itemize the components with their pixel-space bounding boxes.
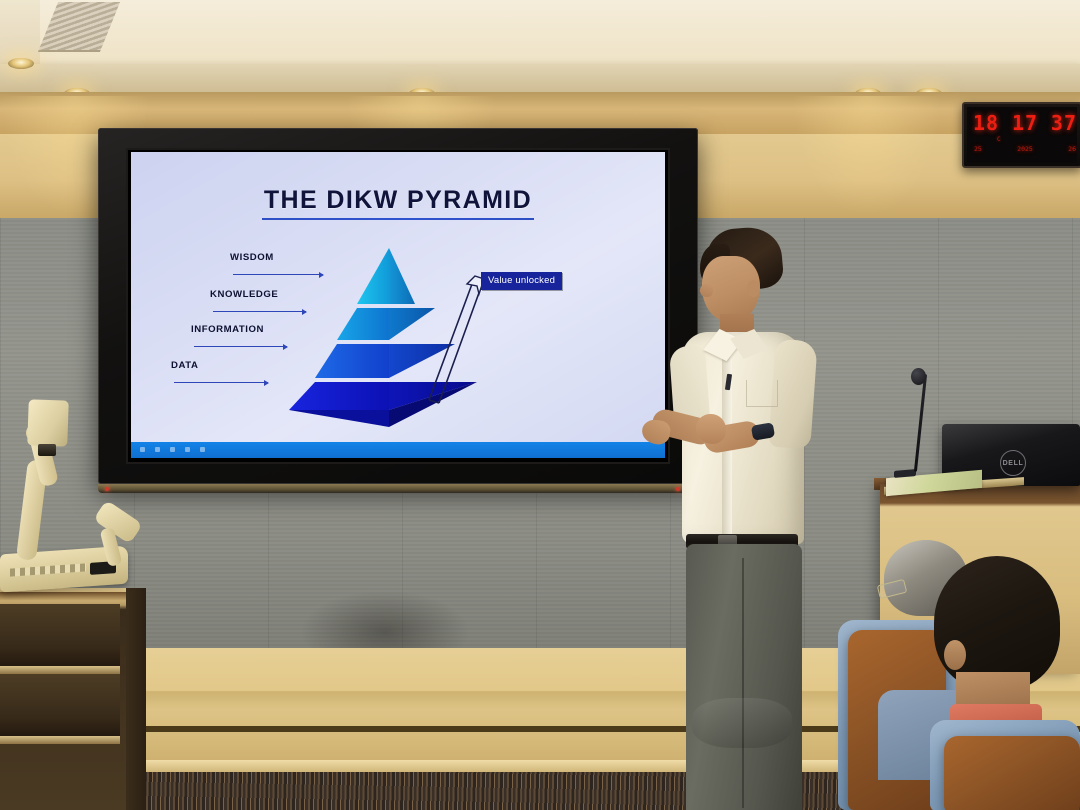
leader-line-information (194, 346, 287, 347)
clock-time: 18 17 37 (973, 111, 1077, 135)
document-camera-head (27, 399, 69, 446)
slide-title-underline (262, 218, 534, 220)
clock-sub-left: 25 (974, 145, 982, 153)
presenter-shirt-pocket (746, 380, 778, 407)
value-unlocked-callout: Value unlocked (481, 272, 562, 290)
pyramid-label-knowledge: KNOWLEDGE (210, 289, 278, 300)
cabinet-side-panel (126, 588, 146, 810)
clock-mid-label: C (997, 136, 1001, 143)
cabinet-shelf-cavity (0, 604, 120, 666)
presenter-trouser-fold (692, 698, 792, 748)
presenter-ear (747, 280, 760, 297)
dikw-pyramid (279, 232, 499, 422)
taskbar-icon[interactable] (170, 447, 175, 452)
pyramid-label-information: INFORMATION (191, 324, 264, 335)
downlight-icon (8, 58, 34, 69)
os-taskbar[interactable] (131, 442, 665, 458)
presenter-hand-right (696, 414, 726, 444)
cabinet-shelf-cavity (0, 674, 120, 736)
clock-minutes: 17 (1012, 111, 1038, 135)
presenter-trousers (686, 544, 802, 810)
taskbar-icon[interactable] (200, 447, 205, 452)
clock-sub-right: 26 (1068, 145, 1076, 153)
audience-ear-2 (944, 640, 966, 670)
presenter-trouser-seam (742, 558, 744, 808)
dell-logo-icon: DELL (1000, 450, 1026, 476)
conference-room-photo: THE DIKW PYRAMID WISDOM KNOWLEDGE INFORM… (0, 0, 1080, 810)
chair-back (944, 736, 1080, 810)
clock-hours: 18 (973, 111, 999, 135)
clock-seconds: 37 (1051, 111, 1077, 135)
microphone-icon[interactable] (911, 368, 926, 385)
digital-wall-clock: 18 17 37 C 25 2025 26 (962, 102, 1080, 168)
clock-sub-mid: 2025 (1017, 145, 1033, 153)
clock-date-row: 25 2025 26 (974, 145, 1076, 153)
pyramid-label-wisdom: WISDOM (230, 252, 274, 263)
taskbar-icon[interactable] (185, 447, 190, 452)
presenter (648, 228, 868, 810)
ceiling-recess (40, 0, 1080, 64)
pyramid-svg (279, 232, 499, 432)
clock-face: 18 17 37 C 25 2025 26 (967, 107, 1077, 163)
leader-line-data (174, 382, 268, 383)
slide-screen[interactable]: THE DIKW PYRAMID WISDOM KNOWLEDGE INFORM… (131, 152, 665, 458)
slide-title: THE DIKW PYRAMID (131, 186, 665, 215)
camera-lens-icon (38, 444, 56, 456)
presenter-nose (700, 284, 713, 297)
document-camera[interactable] (0, 400, 150, 600)
ceiling (0, 0, 1080, 92)
display-mount-bar (98, 484, 698, 493)
taskbar-icon[interactable] (155, 447, 160, 452)
cabinet-shelf (0, 666, 120, 674)
cabinet-shelf (0, 736, 120, 744)
presentation-display[interactable]: THE DIKW PYRAMID WISDOM KNOWLEDGE INFORM… (98, 128, 698, 484)
pyramid-label-data: DATA (171, 360, 198, 371)
